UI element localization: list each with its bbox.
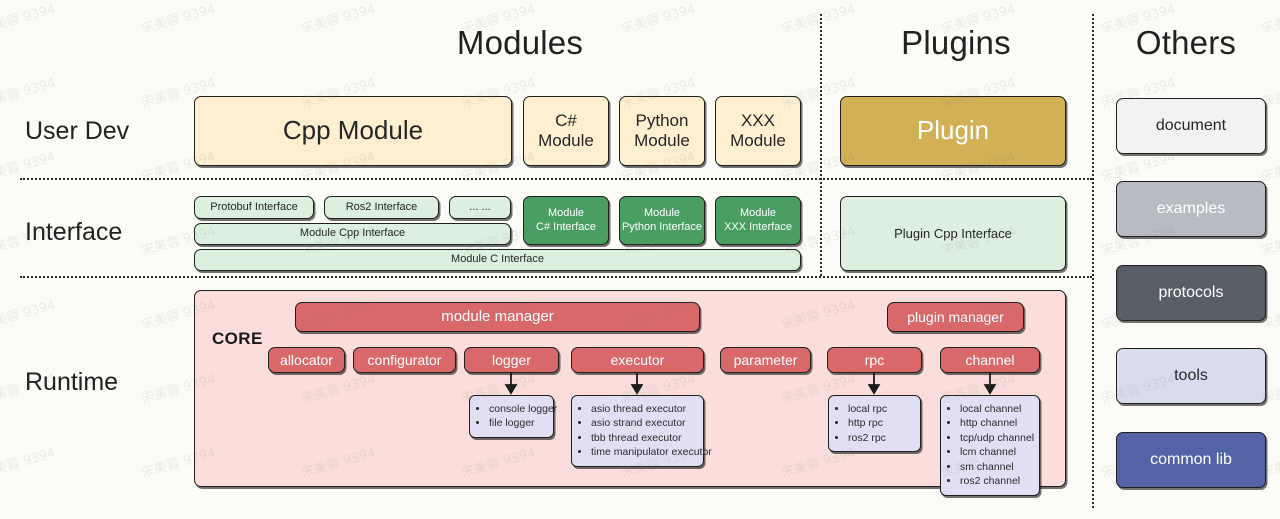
divider-user-dev-interface [20, 178, 1092, 180]
list-item: ros2 channel [960, 474, 1031, 488]
column-title-others: Others [1096, 24, 1276, 62]
watermark-text: 宋美蓉 9394 [0, 442, 57, 481]
list-item: sm channel [960, 460, 1031, 474]
watermark-text: 宋美蓉 9394 [0, 294, 57, 333]
list-item: local channel [960, 402, 1031, 416]
arrow-down-icon [983, 373, 997, 395]
list-item: file logger [489, 416, 545, 430]
list-rpc-impls: local rpchttp rpcros2 rpc [828, 395, 921, 452]
box-other-document[interactable]: document [1116, 98, 1266, 154]
list-item: lcm channel [960, 445, 1031, 459]
box-module-python-interface[interactable]: Module Python Interface [619, 196, 705, 245]
box-xxx-module[interactable]: XXX Module [715, 96, 801, 166]
box-service-allocator[interactable]: allocator [268, 347, 345, 373]
box-service-parameter[interactable]: parameter [720, 347, 811, 373]
box-plugin[interactable]: Plugin [840, 96, 1066, 166]
box-service-channel[interactable]: channel [940, 347, 1040, 373]
list-item: local rpc [848, 402, 912, 416]
list-item: http rpc [848, 416, 912, 430]
box-module-csharp-interface[interactable]: Module C# Interface [523, 196, 609, 245]
arrow-down-icon [504, 373, 518, 395]
list-item: console logger [489, 402, 545, 416]
box-other-tools[interactable]: tools [1116, 348, 1266, 404]
list-item: time manipulator executor [591, 445, 695, 459]
list-item: ros2 rpc [848, 431, 912, 445]
row-label-user-dev: User Dev [25, 117, 129, 146]
column-title-plugins: Plugins [822, 24, 1090, 62]
arrow-down-icon [630, 373, 644, 395]
watermark-text: 宋美蓉 9394 [139, 0, 218, 37]
divider-modules-plugins [820, 14, 822, 276]
list-executor-impls: asio thread executorasio strand executor… [571, 395, 704, 467]
diagram-canvas: Modules Plugins Others User Dev Interfac… [0, 0, 1280, 519]
box-module-xxx-interface[interactable]: Module XXX Interface [715, 196, 801, 245]
column-title-modules: Modules [310, 24, 730, 62]
box-service-rpc[interactable]: rpc [827, 347, 922, 373]
list-item: tbb thread executor [591, 431, 695, 445]
box-cpp-module[interactable]: Cpp Module [194, 96, 512, 166]
box-service-executor[interactable]: executor [571, 347, 704, 373]
box-more-interfaces[interactable]: ... ... [449, 196, 511, 219]
list-item: asio thread executor [591, 402, 695, 416]
arrow-down-icon [867, 373, 881, 395]
box-ros2-interface[interactable]: Ros2 Interface [324, 196, 439, 219]
list-item: tcp/udp channel [960, 431, 1031, 445]
box-other-common-lib[interactable]: common lib [1116, 432, 1266, 488]
watermark-text: 宋美蓉 9394 [0, 72, 57, 111]
box-other-examples[interactable]: examples [1116, 181, 1266, 237]
box-service-configurator[interactable]: configurator [353, 347, 456, 373]
list-item: http channel [960, 416, 1031, 430]
list-channel-impls: local channelhttp channeltcp/udp channel… [940, 395, 1040, 496]
box-service-logger[interactable]: logger [464, 347, 559, 373]
box-module-cpp-interface[interactable]: Module Cpp Interface [194, 223, 511, 245]
row-label-runtime: Runtime [25, 368, 118, 397]
box-plugin-manager[interactable]: plugin manager [887, 302, 1024, 332]
box-plugin-cpp-interface[interactable]: Plugin Cpp Interface [840, 196, 1066, 271]
box-protobuf-interface[interactable]: Protobuf Interface [194, 196, 314, 219]
core-label: CORE [212, 329, 263, 349]
row-label-interface: Interface [25, 218, 122, 247]
divider-interface-runtime [20, 276, 1092, 278]
watermark-text: 宋美蓉 9394 [0, 0, 57, 37]
list-logger-impls: console loggerfile logger [469, 395, 554, 438]
box-module-c-interface[interactable]: Module C Interface [194, 249, 801, 271]
box-python-module[interactable]: Python Module [619, 96, 705, 166]
box-module-manager[interactable]: module manager [295, 302, 700, 332]
divider-plugins-others [1092, 14, 1094, 508]
box-other-protocols[interactable]: protocols [1116, 265, 1266, 321]
box-csharp-module[interactable]: C# Module [523, 96, 609, 166]
list-item: asio strand executor [591, 416, 695, 430]
